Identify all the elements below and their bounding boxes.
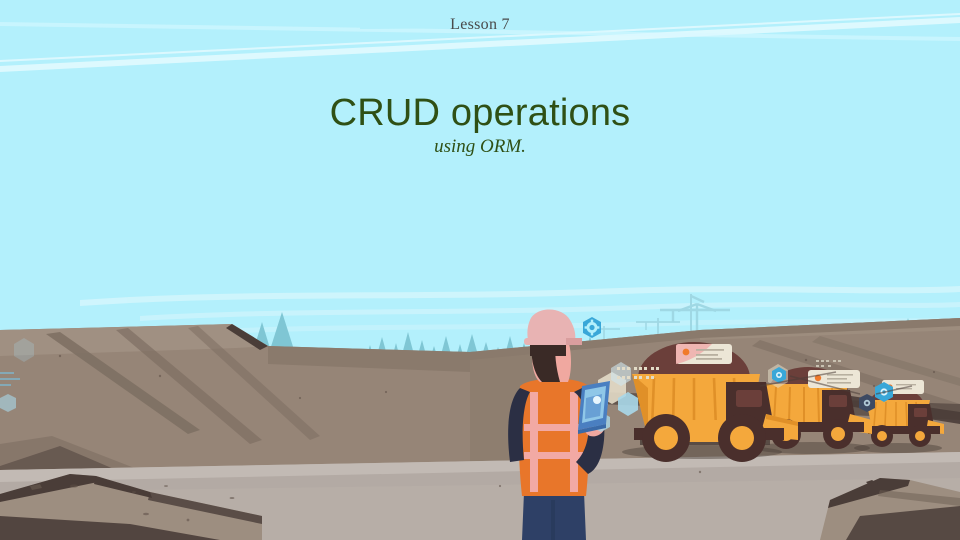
worker-tablet	[578, 381, 610, 434]
lesson-label: Lesson 7	[0, 16, 960, 34]
presentation-slide: Lesson 7 CRUD operations using ORM.	[0, 0, 960, 540]
mining-site-illustration	[0, 0, 960, 540]
page-subtitle: using ORM.	[0, 136, 960, 158]
page-title: CRUD operations	[0, 92, 960, 135]
callout-card-large	[676, 344, 732, 364]
